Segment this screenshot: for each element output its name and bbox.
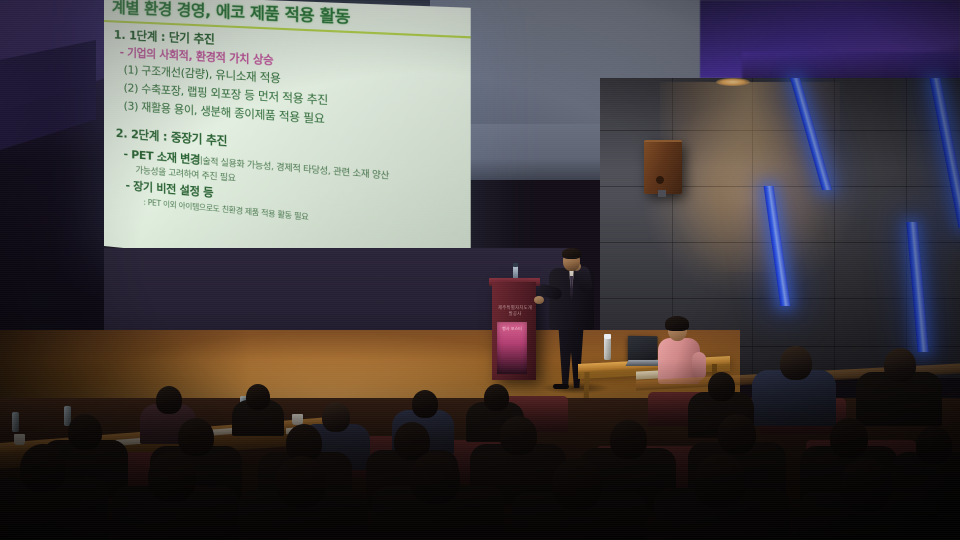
laptop-icon bbox=[628, 336, 658, 363]
podium-label: 제주특별자치도개발공사 bbox=[498, 306, 532, 317]
podium-bottle-cap bbox=[513, 263, 518, 267]
spotlight-glow bbox=[660, 82, 840, 272]
panelist-hair bbox=[665, 316, 689, 331]
auditorium-photo: 계별 환경 경영, 에코 제품 적용 활동 1. 1단계 : 단기 추진 - 기… bbox=[0, 0, 960, 540]
presenter-left-hand bbox=[534, 296, 544, 304]
speaker-bracket bbox=[658, 190, 666, 197]
wall-speaker-icon bbox=[644, 140, 682, 194]
table-water-bottle bbox=[604, 338, 611, 360]
podium-poster-caption: 행사 포스터 bbox=[499, 326, 525, 332]
glasses-icon bbox=[565, 257, 578, 261]
house-dim-overlay bbox=[0, 360, 960, 540]
ceiling-spotlight bbox=[716, 78, 750, 86]
slide-line-11: : PET 이외 아이템으로도 친환경 제품 적용 활동 필요 bbox=[143, 196, 308, 222]
speaker-cone-icon bbox=[656, 176, 664, 184]
presentation-slide: 계별 환경 경영, 에코 제품 적용 활동 1. 1단계 : 단기 추진 - 기… bbox=[104, 0, 471, 284]
table-bottle-cap bbox=[604, 334, 611, 339]
projection-screen: 계별 환경 경영, 에코 제품 적용 활동 1. 1단계 : 단기 추진 - 기… bbox=[104, 0, 471, 287]
